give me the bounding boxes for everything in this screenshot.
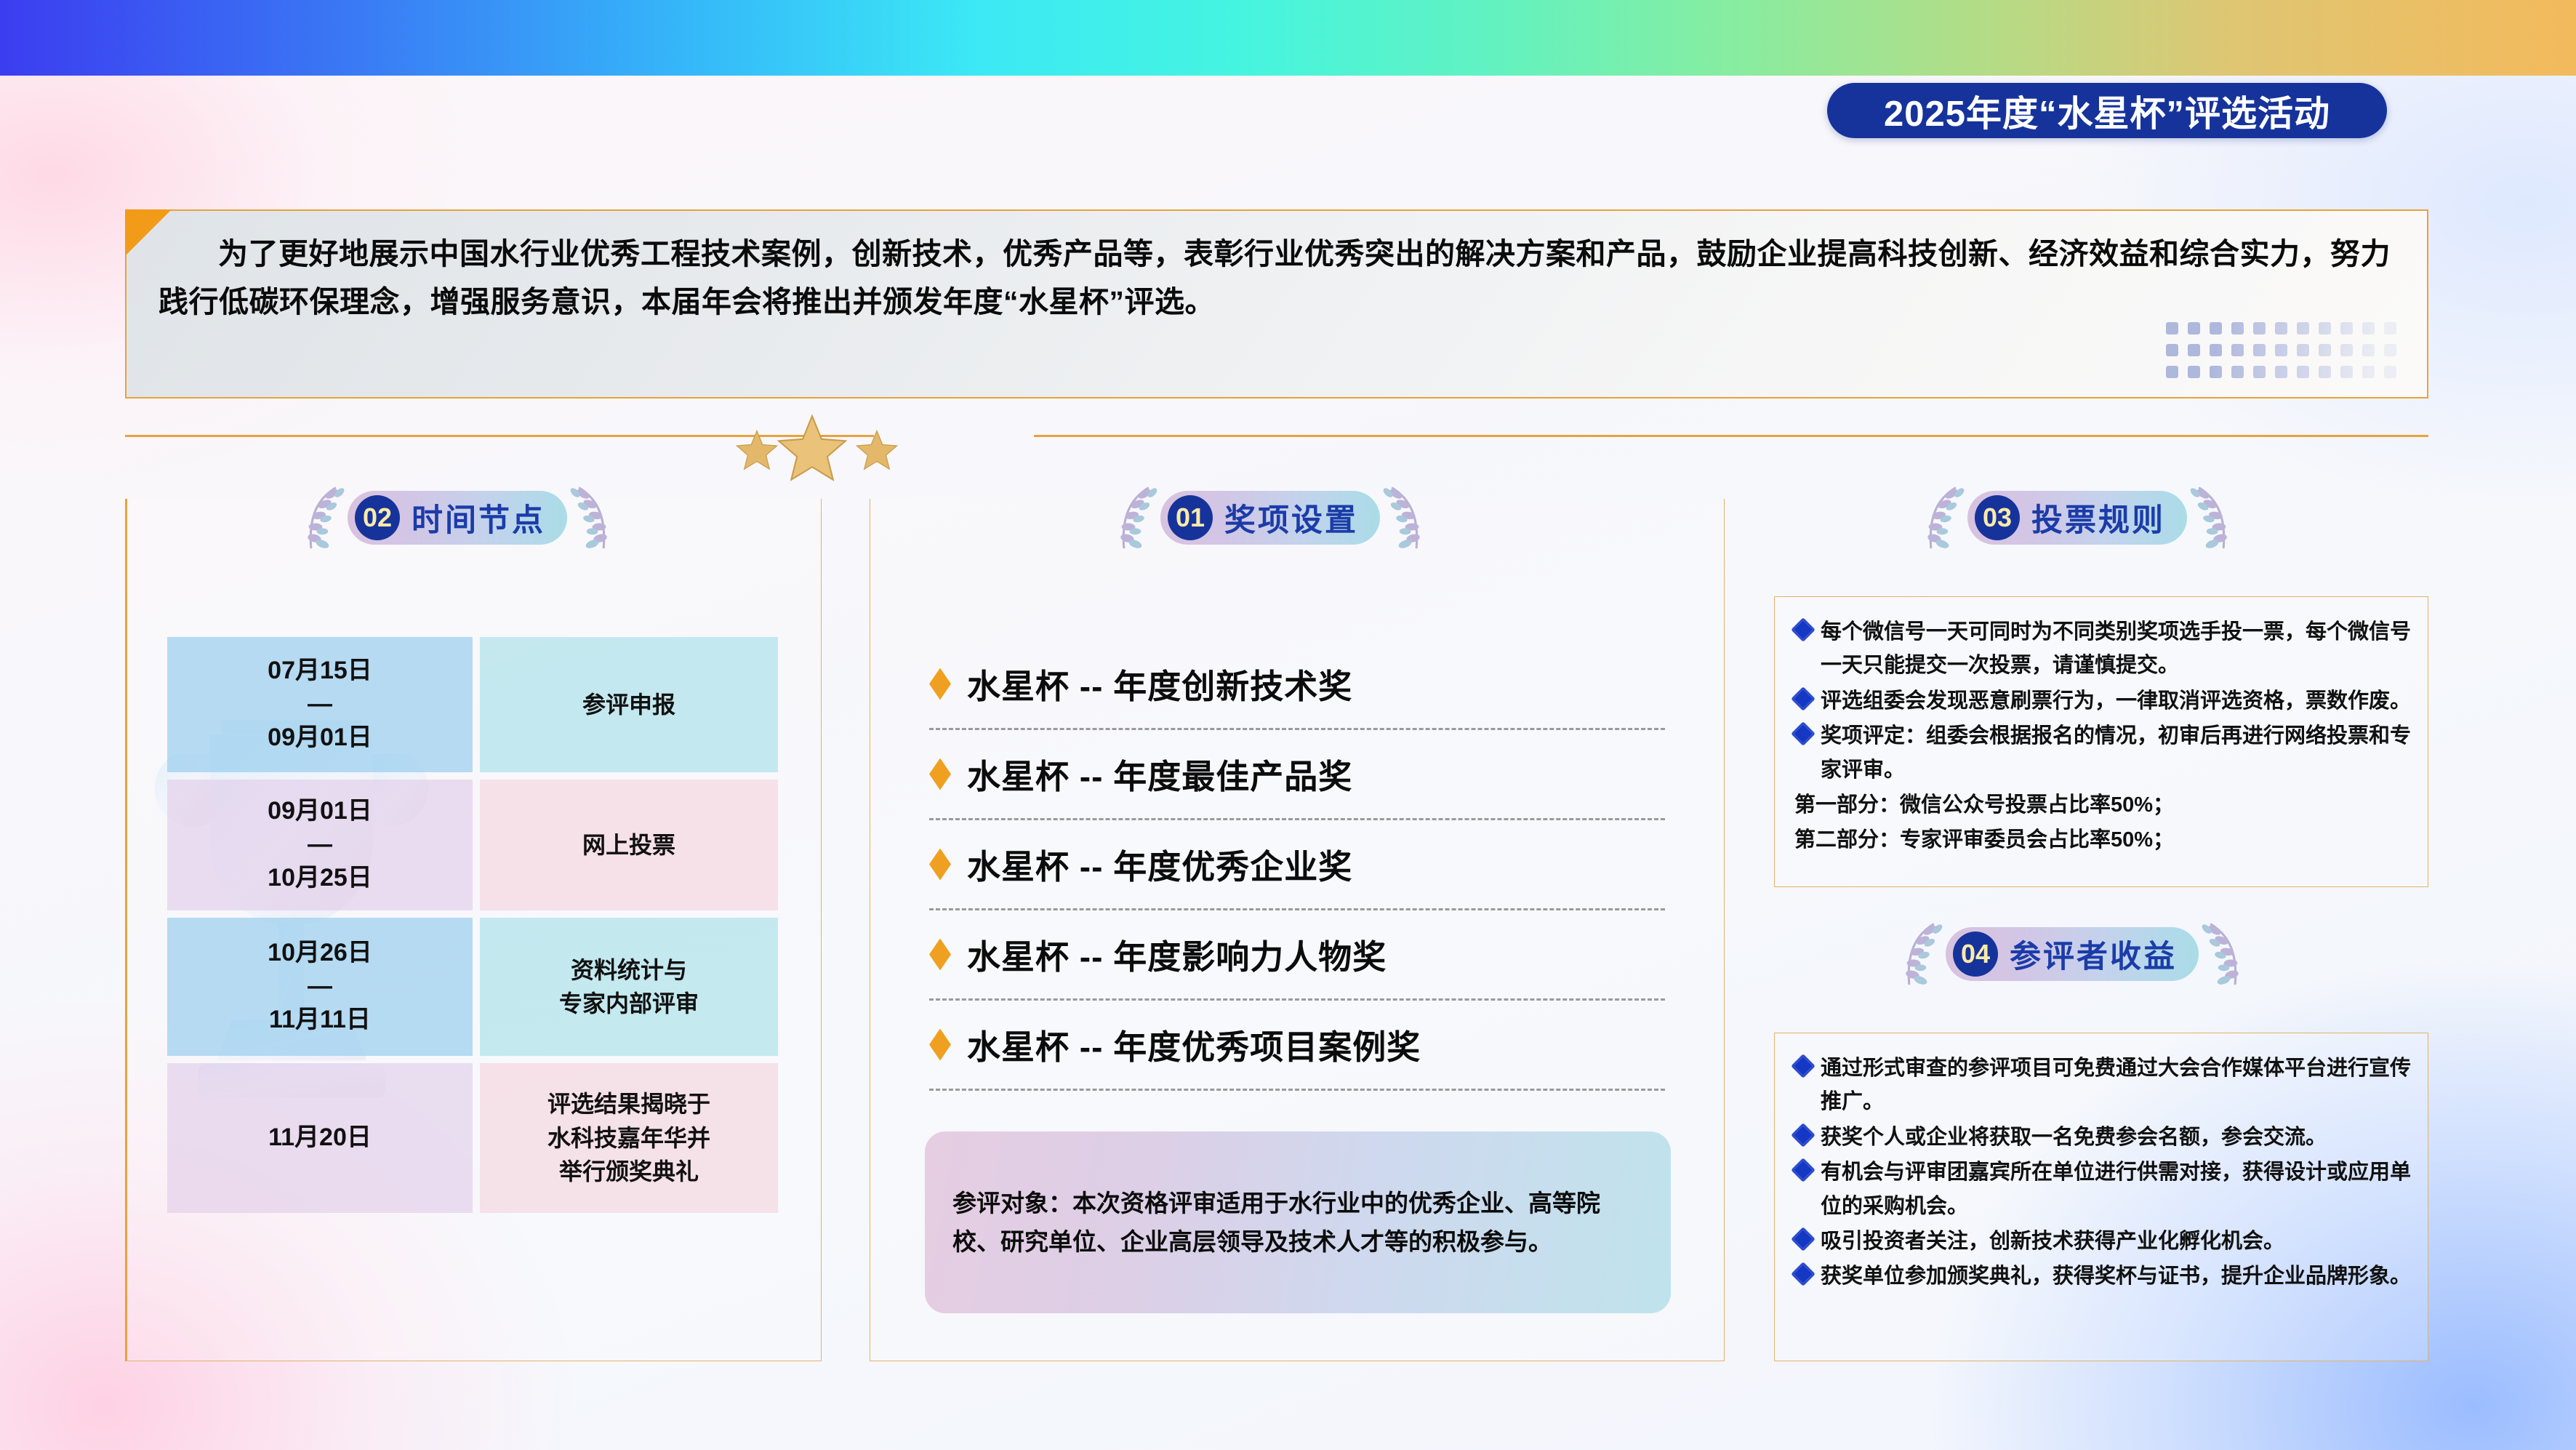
dot-grid-decoration bbox=[2166, 322, 2402, 384]
laurel-right-icon bbox=[1380, 484, 1428, 552]
list-item: 获奖个人或企业将获取一名免费参会名额，参会交流。 bbox=[1794, 1121, 2420, 1154]
list-item: 吸引投资者关注，创新技术获得产业化孵化机会。 bbox=[1794, 1225, 2420, 1258]
gold-divider bbox=[125, 435, 2428, 438]
laurel-left-icon bbox=[1898, 920, 1946, 988]
award-label: 水星杯 -- 年度最佳产品奖 bbox=[967, 750, 1352, 798]
section-header-rules: 03 投票规则 bbox=[1919, 484, 2235, 552]
list-item: 水星杯 -- 年度最佳产品奖 bbox=[929, 730, 1665, 820]
rule-text: 评选组委会发现恶意刷票行为，一律取消评选资格，票数作废。 bbox=[1821, 684, 2420, 718]
award-label: 水星杯 -- 年度创新技术奖 bbox=[967, 660, 1352, 708]
eligibility-box: 参评对象：本次资格评审适用于水行业中的优秀企业、高等院校、研究单位、企业高层领导… bbox=[925, 1131, 1671, 1313]
benefits-list: 通过形式审查的参评项目可免费通过大会合作媒体平台进行宣传推广。 获奖个人或企业将… bbox=[1794, 1052, 2420, 1295]
awards-header-pill: 01 奖项设置 bbox=[1160, 491, 1380, 545]
benefit-text: 获奖个人或企业将获取一名免费参会名额，参会交流。 bbox=[1821, 1121, 2420, 1154]
list-item: 获奖单位参加颁奖典礼，获得奖杯与证书，提升企业品牌形象。 bbox=[1794, 1259, 2420, 1293]
timeline-table: 07月15日—09月01日 参评申报 09月01日—10月25日 网上投票 10… bbox=[167, 637, 778, 1220]
rule-text: 第二部分：专家评审委员会占比率50%； bbox=[1794, 823, 2420, 857]
star-large-center-icon bbox=[774, 413, 850, 486]
laurel-right-icon bbox=[2187, 484, 2235, 552]
timeline-header-pill: 02 时间节点 bbox=[348, 491, 567, 545]
diamond-bullet-icon bbox=[1791, 617, 1815, 642]
timeline-date: 11月20日 bbox=[167, 1063, 473, 1213]
benefit-text: 通过形式审查的参评项目可免费通过大会合作媒体平台进行宣传推广。 bbox=[1821, 1052, 2420, 1119]
benefit-text: 有机会与评审团嘉宾所在单位进行供需对接，获得设计或应用单位的采购机会。 bbox=[1821, 1155, 2420, 1223]
diamond-bullet-icon bbox=[1791, 686, 1815, 711]
page-title: 2025年度“水星杯”评选活动 bbox=[1884, 85, 2330, 137]
timeline-desc: 网上投票 bbox=[480, 780, 778, 910]
rules-label: 投票规则 bbox=[2031, 495, 2165, 540]
diamond-bullet-icon bbox=[929, 1029, 951, 1061]
star-small-right-icon bbox=[854, 429, 899, 473]
rule-text: 奖项评定：组委会根据报名的情况，初审后再进行网络投票和专家评审。 bbox=[1821, 719, 2420, 787]
award-label: 水星杯 -- 年度影响力人物奖 bbox=[967, 931, 1387, 979]
laurel-left-icon bbox=[1919, 484, 1967, 552]
diamond-bullet-icon bbox=[1791, 1054, 1815, 1078]
intro-paragraph: 为了更好地展示中国水行业优秀工程技术案例，创新技术，优秀产品等，表彰行业优秀突出… bbox=[159, 230, 2392, 327]
diamond-bullet-icon bbox=[929, 758, 951, 790]
awards-number: 01 bbox=[1168, 495, 1213, 540]
laurel-right-icon bbox=[567, 484, 615, 552]
list-item: 评选组委会发现恶意刷票行为，一律取消评选资格，票数作废。 bbox=[1794, 684, 2420, 718]
timeline-date: 10月26日—11月11日 bbox=[167, 918, 473, 1056]
timeline-date: 09月01日—10月25日 bbox=[167, 780, 473, 910]
laurel-left-icon bbox=[1112, 484, 1160, 552]
list-item: 第二部分：专家评审委员会占比率50%； bbox=[1794, 823, 2420, 857]
timeline-desc: 资料统计与专家内部评审 bbox=[480, 918, 778, 1056]
laurel-left-icon bbox=[300, 484, 348, 552]
table-row: 11月20日 评选结果揭晓于水科技嘉年华并举行颁奖典礼 bbox=[167, 1063, 778, 1213]
diamond-bullet-icon bbox=[1791, 1262, 1815, 1286]
timeline-label: 时间节点 bbox=[412, 495, 545, 540]
diamond-bullet-icon bbox=[929, 668, 951, 700]
list-item: 水星杯 -- 年度优秀项目案例奖 bbox=[929, 1001, 1665, 1091]
list-item: 第一部分：微信公众号投票占比率50%； bbox=[1794, 788, 2420, 822]
diamond-bullet-icon bbox=[1791, 1158, 1815, 1182]
rule-text: 第一部分：微信公众号投票占比率50%； bbox=[1794, 788, 2420, 822]
benefit-text: 获奖单位参加颁奖典礼，获得奖杯与证书，提升企业品牌形象。 bbox=[1821, 1259, 2420, 1293]
list-item: 水星杯 -- 年度优秀企业奖 bbox=[929, 820, 1665, 910]
diamond-bullet-icon bbox=[1791, 1227, 1815, 1251]
diamond-bullet-icon bbox=[929, 939, 951, 971]
benefits-header-pill: 04 参评者收益 bbox=[1946, 927, 2199, 981]
page-title-badge: 2025年度“水星杯”评选活动 bbox=[1827, 83, 2387, 138]
timeline-date: 07月15日—09月01日 bbox=[167, 637, 473, 772]
section-header-awards: 01 奖项设置 bbox=[1112, 484, 1428, 552]
table-row: 10月26日—11月11日 资料统计与专家内部评审 bbox=[167, 918, 778, 1056]
intro-section: 为了更好地展示中国水行业优秀工程技术案例，创新技术，优秀产品等，表彰行业优秀突出… bbox=[125, 209, 2428, 398]
list-item: 有机会与评审团嘉宾所在单位进行供需对接，获得设计或应用单位的采购机会。 bbox=[1794, 1155, 2420, 1223]
awards-list: 水星杯 -- 年度创新技术奖 水星杯 -- 年度最佳产品奖 水星杯 -- 年度优… bbox=[929, 640, 1665, 1091]
award-label: 水星杯 -- 年度优秀企业奖 bbox=[967, 841, 1352, 889]
timeline-number: 02 bbox=[355, 495, 400, 540]
list-item: 水星杯 -- 年度创新技术奖 bbox=[929, 640, 1665, 730]
section-header-benefits: 04 参评者收益 bbox=[1898, 920, 2247, 988]
award-label: 水星杯 -- 年度优秀项目案例奖 bbox=[967, 1021, 1421, 1069]
table-row: 09月01日—10月25日 网上投票 bbox=[167, 780, 778, 910]
top-gradient-bar bbox=[0, 0, 2576, 76]
eligibility-text: 参评对象：本次资格评审适用于水行业中的优秀企业、高等院校、研究单位、企业高层领导… bbox=[952, 1184, 1643, 1262]
star-small-left-icon bbox=[734, 429, 779, 473]
benefits-number: 04 bbox=[1953, 932, 1998, 977]
timeline-desc: 评选结果揭晓于水科技嘉年华并举行颁奖典礼 bbox=[480, 1063, 778, 1213]
list-item: 水星杯 -- 年度影响力人物奖 bbox=[929, 910, 1665, 1001]
section-header-timeline: 02 时间节点 bbox=[300, 484, 615, 552]
list-item: 每个微信号一天可同时为不同类别奖项选手投一票，每个微信号一天只能提交一次投票，请… bbox=[1794, 615, 2420, 683]
diamond-bullet-icon bbox=[1791, 721, 1815, 746]
stars-decoration bbox=[734, 413, 916, 467]
benefit-text: 吸引投资者关注，创新技术获得产业化孵化机会。 bbox=[1821, 1225, 2420, 1258]
awards-label: 奖项设置 bbox=[1224, 495, 1358, 540]
rules-header-pill: 03 投票规则 bbox=[1967, 491, 2187, 545]
diamond-bullet-icon bbox=[1791, 1123, 1815, 1147]
timeline-desc: 参评申报 bbox=[480, 637, 778, 772]
list-item: 通过形式审查的参评项目可免费通过大会合作媒体平台进行宣传推广。 bbox=[1794, 1052, 2420, 1119]
laurel-right-icon bbox=[2199, 920, 2247, 988]
benefits-label: 参评者收益 bbox=[2010, 932, 2177, 977]
diamond-bullet-icon bbox=[929, 849, 951, 881]
table-row: 07月15日—09月01日 参评申报 bbox=[167, 637, 778, 772]
rules-number: 03 bbox=[1975, 495, 2020, 540]
rule-text: 每个微信号一天可同时为不同类别奖项选手投一票，每个微信号一天只能提交一次投票，请… bbox=[1821, 615, 2420, 683]
voting-rules-list: 每个微信号一天可同时为不同类别奖项选手投一票，每个微信号一天只能提交一次投票，请… bbox=[1794, 615, 2420, 859]
list-item: 奖项评定：组委会根据报名的情况，初审后再进行网络投票和专家评审。 bbox=[1794, 719, 2420, 787]
